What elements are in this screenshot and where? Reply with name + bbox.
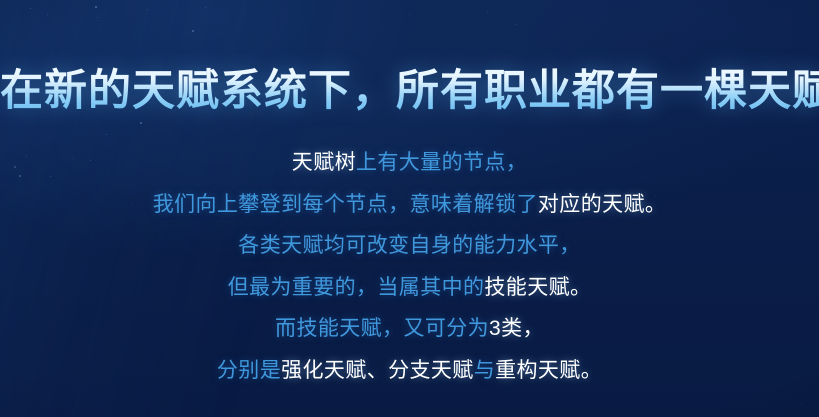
body-text-line-1: 天赋树上有大量的节点， xyxy=(0,142,819,184)
body-text-segment: 各类天赋均可改变自身的能力水平， xyxy=(238,234,580,257)
body-text-line-2: 我们向上攀登到每个节点，意味着解锁了对应的天赋。 xyxy=(0,184,819,226)
highlighted-term: 强化天赋、分支天赋 xyxy=(281,359,474,382)
body-text-line-6: 分别是强化天赋、分支天赋与重构天赋。 xyxy=(0,350,819,392)
slide-content: 在新的天赋系统下，所有职业都有一棵天赋树。 天赋树上有大量的节点，我们向上攀登到… xyxy=(0,0,819,417)
body-text-line-4: 但最为重要的，当属其中的技能天赋。 xyxy=(0,267,819,309)
highlighted-term: 技能天赋。 xyxy=(484,276,591,299)
slide-body-text: 天赋树上有大量的节点，我们向上攀登到每个节点，意味着解锁了对应的天赋。各类天赋均… xyxy=(0,142,819,391)
body-text-segment: 分别是 xyxy=(217,359,281,382)
highlighted-term: 3类， xyxy=(489,317,544,340)
highlighted-term: 重构天赋。 xyxy=(495,359,602,382)
body-text-segment: 上有大量的节点， xyxy=(356,151,527,174)
body-text-segment: 但最为重要的，当属其中的 xyxy=(228,276,485,299)
body-text-line-5: 而技能天赋，又可分为3类， xyxy=(0,308,819,350)
highlighted-term: 对应的天赋。 xyxy=(538,193,666,216)
body-text-segment: 我们向上攀登到每个节点，意味着解锁了 xyxy=(153,193,538,216)
slide-title: 在新的天赋系统下，所有职业都有一棵天赋树。 xyxy=(0,65,819,119)
body-text-line-3: 各类天赋均可改变自身的能力水平， xyxy=(0,225,819,267)
body-text-segment: 与 xyxy=(474,359,495,382)
highlighted-term: 天赋树 xyxy=(292,151,356,174)
body-text-segment: 而技能天赋，又可分为 xyxy=(275,317,489,340)
presentation-slide: 在新的天赋系统下，所有职业都有一棵天赋树。 天赋树上有大量的节点，我们向上攀登到… xyxy=(0,0,819,417)
